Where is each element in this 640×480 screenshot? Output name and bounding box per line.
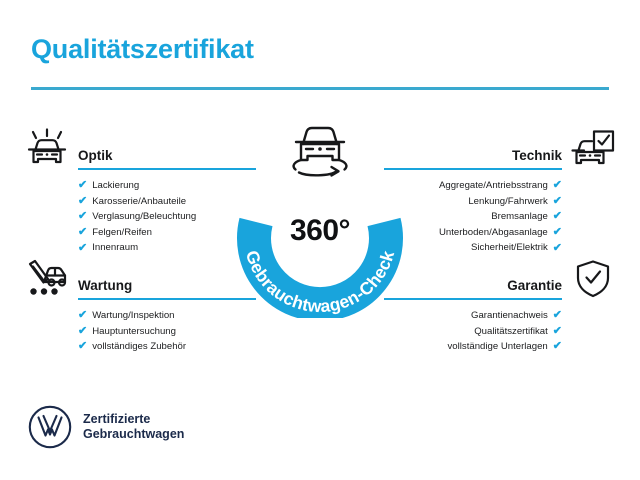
footer-line-1: Zertifizierte <box>83 412 184 428</box>
section-optik: Optik ✔Lackierung ✔Karosserie/Anbauteile… <box>24 128 256 256</box>
check-icon: ✔ <box>553 227 562 238</box>
list-item-label: Verglasung/Beleuchtung <box>92 209 196 225</box>
check-icon: ✔ <box>78 243 87 254</box>
check-icon: ✔ <box>78 211 87 222</box>
check-icon: ✔ <box>553 310 562 321</box>
list-item: vollständige Unterlagen✔ <box>384 339 616 355</box>
check-icon: ✔ <box>553 180 562 191</box>
check-icon: ✔ <box>553 341 562 352</box>
list-item-label: Karosserie/Anbauteile <box>92 194 186 210</box>
list-item: ✔Wartung/Inspektion <box>24 308 256 324</box>
badge-360-gebrauchtwagen-check: Gebrauchtwagen-Check 360° <box>224 122 416 318</box>
section-wartung-list: ✔Wartung/Inspektion ✔Hauptuntersuchung ✔… <box>24 308 256 355</box>
list-item-label: Qualitätszertifikat <box>474 324 548 340</box>
list-item: ✔vollständiges Zubehör <box>24 339 256 355</box>
list-item: ✔Hauptuntersuchung <box>24 324 256 340</box>
check-icon: ✔ <box>78 196 87 207</box>
list-item: Qualitätszertifikat✔ <box>384 324 616 340</box>
car-service-tool-icon <box>24 258 70 300</box>
check-icon: ✔ <box>553 196 562 207</box>
section-garantie-header: Garantie <box>384 258 616 300</box>
vw-roundel-logo <box>27 404 73 450</box>
list-item: ✔Felgen/Reifen <box>24 225 256 241</box>
list-item-label: Bremsanlage <box>491 209 548 225</box>
footer-text: Zertifizierte Gebrauchtwagen <box>83 412 184 443</box>
list-item-label: Aggregate/Antriebsstrang <box>439 178 548 194</box>
check-icon: ✔ <box>553 326 562 337</box>
list-item: ✔Innenraum <box>24 240 256 256</box>
check-icon: ✔ <box>78 341 87 352</box>
list-item: ✔Verglasung/Beleuchtung <box>24 209 256 225</box>
section-technik-list: Aggregate/Antriebsstrang✔ Lenkung/Fahrwe… <box>384 178 616 256</box>
badge-center-label: 360° <box>224 214 416 248</box>
list-item: Bremsanlage✔ <box>384 209 616 225</box>
list-item-label: Felgen/Reifen <box>92 225 152 241</box>
list-item-label: Wartung/Inspektion <box>92 308 174 324</box>
list-item: Garantienachweis✔ <box>384 308 616 324</box>
section-optik-header: Optik <box>24 128 256 170</box>
section-technik: Technik Aggregate/Antriebsstrang✔ Lenkun… <box>384 128 616 256</box>
shield-check-icon <box>570 258 616 300</box>
footer-line-2: Gebrauchtwagen <box>83 427 184 443</box>
check-icon: ✔ <box>78 227 87 238</box>
footer-brand: Zertifizierte Gebrauchtwagen <box>27 404 184 450</box>
list-item-label: Unterboden/Abgasanlage <box>439 225 548 241</box>
car-shine-icon <box>24 128 70 170</box>
check-icon: ✔ <box>553 211 562 222</box>
section-wartung: Wartung ✔Wartung/Inspektion ✔Hauptunters… <box>24 258 256 355</box>
section-optik-list: ✔Lackierung ✔Karosserie/Anbauteile ✔Verg… <box>24 178 256 256</box>
list-item-label: Sicherheit/Elektrik <box>471 240 548 256</box>
list-item: Lenkung/Fahrwerk✔ <box>384 194 616 210</box>
list-item-label: Garantienachweis <box>471 308 548 324</box>
section-garantie-list: Garantienachweis✔ Qualitätszertifikat✔ v… <box>384 308 616 355</box>
check-icon: ✔ <box>78 310 87 321</box>
list-item: ✔Karosserie/Anbauteile <box>24 194 256 210</box>
list-item: Aggregate/Antriebsstrang✔ <box>384 178 616 194</box>
list-item-label: vollständiges Zubehör <box>92 339 186 355</box>
section-garantie: Garantie Garantienachweis✔ Qualitätszert… <box>384 258 616 355</box>
section-technik-header: Technik <box>384 128 616 170</box>
list-item: Unterboden/Abgasanlage✔ <box>384 225 616 241</box>
list-item: Sicherheit/Elektrik✔ <box>384 240 616 256</box>
check-icon: ✔ <box>78 180 87 191</box>
list-item: ✔Lackierung <box>24 178 256 194</box>
list-item-label: Innenraum <box>92 240 138 256</box>
page-title: Qualitätszertifikat <box>31 34 254 65</box>
list-item-label: Hauptuntersuchung <box>92 324 176 340</box>
list-item-label: Lenkung/Fahrwerk <box>468 194 547 210</box>
qualitaetszertifikat-page: Qualitätszertifikat Optik <box>0 0 640 480</box>
list-item-label: Lackierung <box>92 178 139 194</box>
list-item-label: vollständige Unterlagen <box>448 339 548 355</box>
section-wartung-header: Wartung <box>24 258 256 300</box>
header-divider <box>31 87 609 90</box>
check-icon: ✔ <box>78 326 87 337</box>
check-icon: ✔ <box>553 243 562 254</box>
car-checkbox-icon <box>570 128 616 170</box>
